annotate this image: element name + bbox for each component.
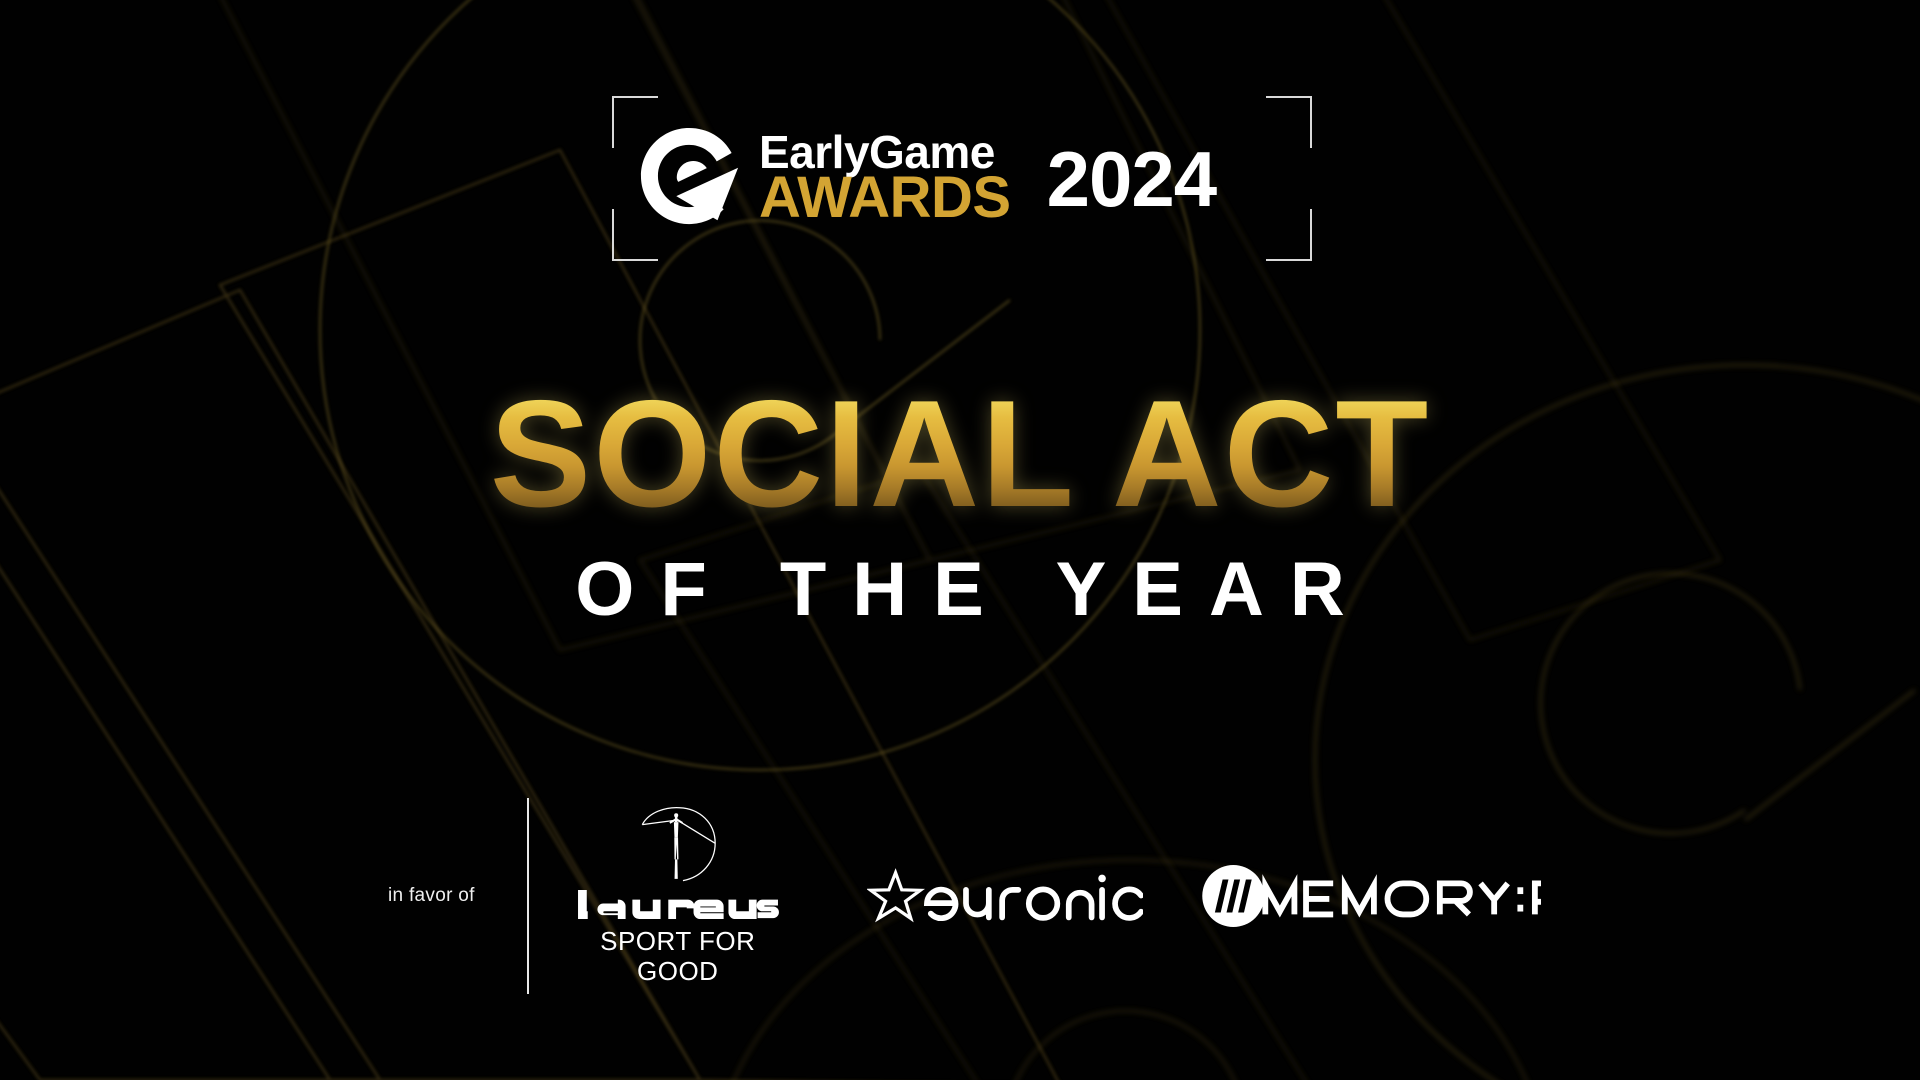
award-slide: EarlyGame AWARDS 2024 SOCIAL ACT OF THE …	[0, 0, 1920, 1080]
earlygame-e-mark-icon	[637, 126, 745, 230]
bracket-corner-bottom-right-icon	[1266, 209, 1312, 261]
euronics-wordmark-icon	[867, 867, 1143, 926]
logo-line-awards: AWARDS	[759, 171, 1011, 224]
bracket-corner-top-right-icon	[1266, 96, 1312, 148]
sponsor-logo-memorypc[interactable]	[1201, 864, 1541, 928]
sponsor-logo-euronics[interactable]	[867, 867, 1143, 926]
memorypc-circle-bars-icon	[1202, 865, 1264, 927]
vertical-divider-icon	[527, 798, 529, 994]
earlygame-awards-logo: EarlyGame AWARDS 2024	[612, 96, 1312, 261]
award-title: SOCIAL ACT	[490, 378, 1430, 530]
in-favor-of-label: in favor of	[388, 885, 475, 907]
award-title-block: SOCIAL ACT OF THE YEAR	[0, 378, 1920, 628]
award-subtitle: OF THE YEAR	[0, 552, 1920, 628]
logo-year: 2024	[1047, 134, 1217, 225]
sponsor-logo-laureus[interactable]: SPORT FOR GOOD	[575, 806, 781, 985]
sponsor-footer: in favor of	[388, 798, 1541, 994]
euronics-star-icon	[871, 872, 920, 918]
memorypc-wordmark-icon	[1201, 864, 1541, 928]
laureus-statue-icon	[627, 806, 729, 884]
laureus-wordmark-icon	[575, 888, 781, 921]
laureus-tagline: SPORT FOR GOOD	[600, 927, 755, 985]
colon-icon	[1517, 887, 1523, 911]
